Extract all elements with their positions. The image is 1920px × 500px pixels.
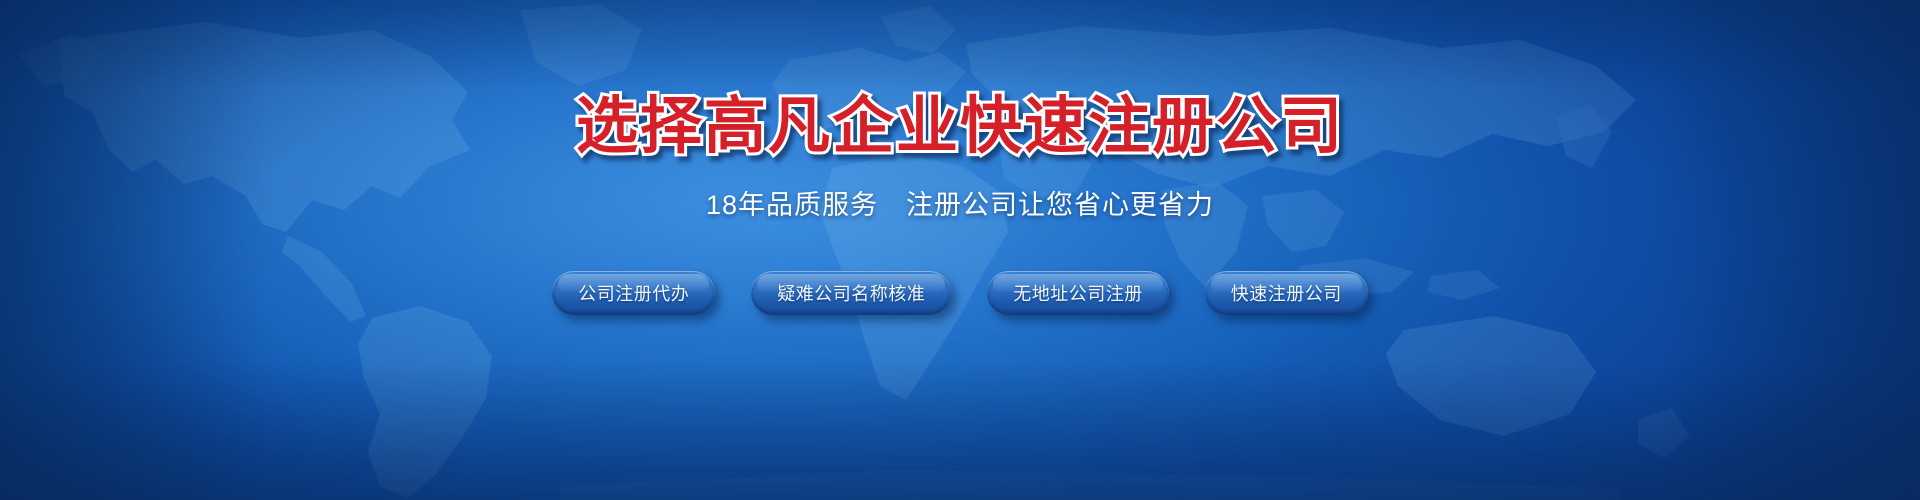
service-tag-label: 无地址公司注册 — [1013, 280, 1143, 306]
service-tag-fast-company-registration[interactable]: 快速注册公司 — [1205, 271, 1368, 315]
service-tag-difficult-name-approval[interactable]: 疑难公司名称核准 — [751, 271, 951, 315]
service-tag-label: 快速注册公司 — [1231, 280, 1342, 306]
service-tag-row: 公司注册代办 疑难公司名称核准 无地址公司注册 快速注册公司 — [552, 271, 1368, 315]
banner-subheadline: 18年品质服务 注册公司让您省心更省力 — [706, 192, 1214, 219]
service-tag-label: 公司注册代办 — [578, 280, 689, 306]
banner-content: 选择高凡企业快速注册公司 18年品质服务 注册公司让您省心更省力 公司注册代办 … — [0, 0, 1920, 500]
hero-banner: 选择高凡企业快速注册公司 18年品质服务 注册公司让您省心更省力 公司注册代办 … — [0, 0, 1920, 500]
service-tag-company-registration-agency[interactable]: 公司注册代办 — [552, 271, 715, 315]
service-tag-label: 疑难公司名称核准 — [777, 280, 925, 306]
service-tag-no-address-registration[interactable]: 无地址公司注册 — [987, 271, 1169, 315]
banner-headline: 选择高凡企业快速注册公司 — [576, 96, 1344, 158]
